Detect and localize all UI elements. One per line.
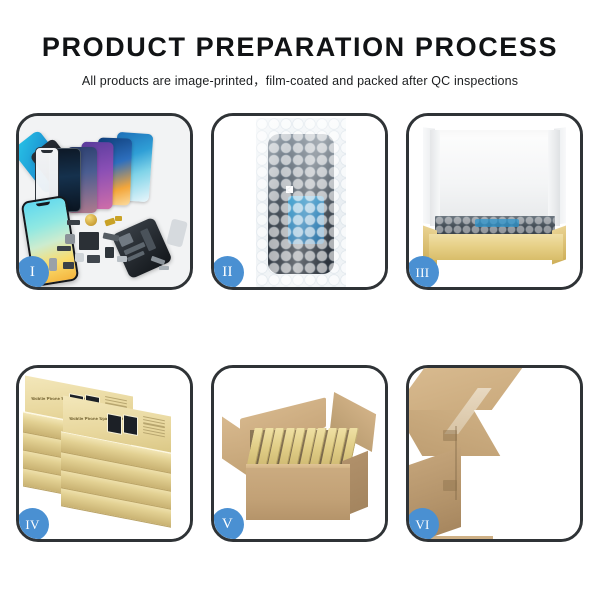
process-step-panel-2: II bbox=[211, 113, 388, 290]
step-badge-6: VI bbox=[406, 508, 439, 541]
product-preparation-infographic: PRODUCT PREPARATION PROCESS All products… bbox=[0, 0, 600, 600]
process-step-grid: I II bbox=[0, 0, 600, 600]
process-step-panel-3: III bbox=[406, 113, 583, 290]
plastic-sheen bbox=[256, 118, 346, 288]
step-badge-2: II bbox=[211, 256, 244, 289]
process-step-panel-1: I bbox=[16, 113, 193, 290]
bubble-wrap-bag bbox=[256, 118, 346, 288]
spare-part-speaker bbox=[105, 247, 114, 258]
spare-part-camera-module bbox=[87, 255, 100, 263]
spare-part-sim-tray bbox=[75, 253, 84, 262]
white-foam-lining bbox=[430, 130, 560, 226]
spare-part-ribbon bbox=[63, 262, 74, 269]
process-step-panel-5: V bbox=[211, 365, 388, 542]
product-blue-label bbox=[475, 219, 519, 227]
spare-part-flex-cable bbox=[57, 246, 71, 251]
spare-part-button-set bbox=[49, 258, 57, 271]
spare-part-gold-connector bbox=[104, 218, 115, 227]
carton-top-left-face bbox=[406, 368, 522, 410]
spare-part-chip bbox=[67, 220, 80, 225]
carton-front-panel bbox=[246, 468, 350, 520]
box-window-left bbox=[107, 413, 122, 435]
box-spec-lines bbox=[143, 416, 165, 439]
spare-part-screw-tray bbox=[79, 232, 99, 250]
step-badge-4: IV bbox=[16, 508, 49, 541]
process-step-panel-6: VI bbox=[406, 365, 583, 542]
box-window-right bbox=[123, 414, 138, 436]
spare-part-metal-shield bbox=[117, 256, 127, 262]
kraft-box-front-panel bbox=[429, 234, 563, 260]
step-badge-5: V bbox=[211, 508, 244, 541]
carton-handle-tab-bottom bbox=[443, 480, 457, 491]
step-badge-1: I bbox=[16, 256, 49, 289]
process-step-panel-4: Mobile Phone Spare Parts Mobile Phone Sp… bbox=[16, 365, 193, 542]
spare-part-tool-pry bbox=[159, 266, 169, 270]
spare-part-gold-coil bbox=[85, 214, 97, 226]
spare-part-bracket bbox=[65, 234, 75, 244]
step-badge-3: III bbox=[406, 256, 439, 289]
spare-part-battery bbox=[166, 218, 188, 247]
carton-handle-tab-top bbox=[443, 430, 457, 441]
spare-part-gold-clip bbox=[115, 216, 122, 221]
